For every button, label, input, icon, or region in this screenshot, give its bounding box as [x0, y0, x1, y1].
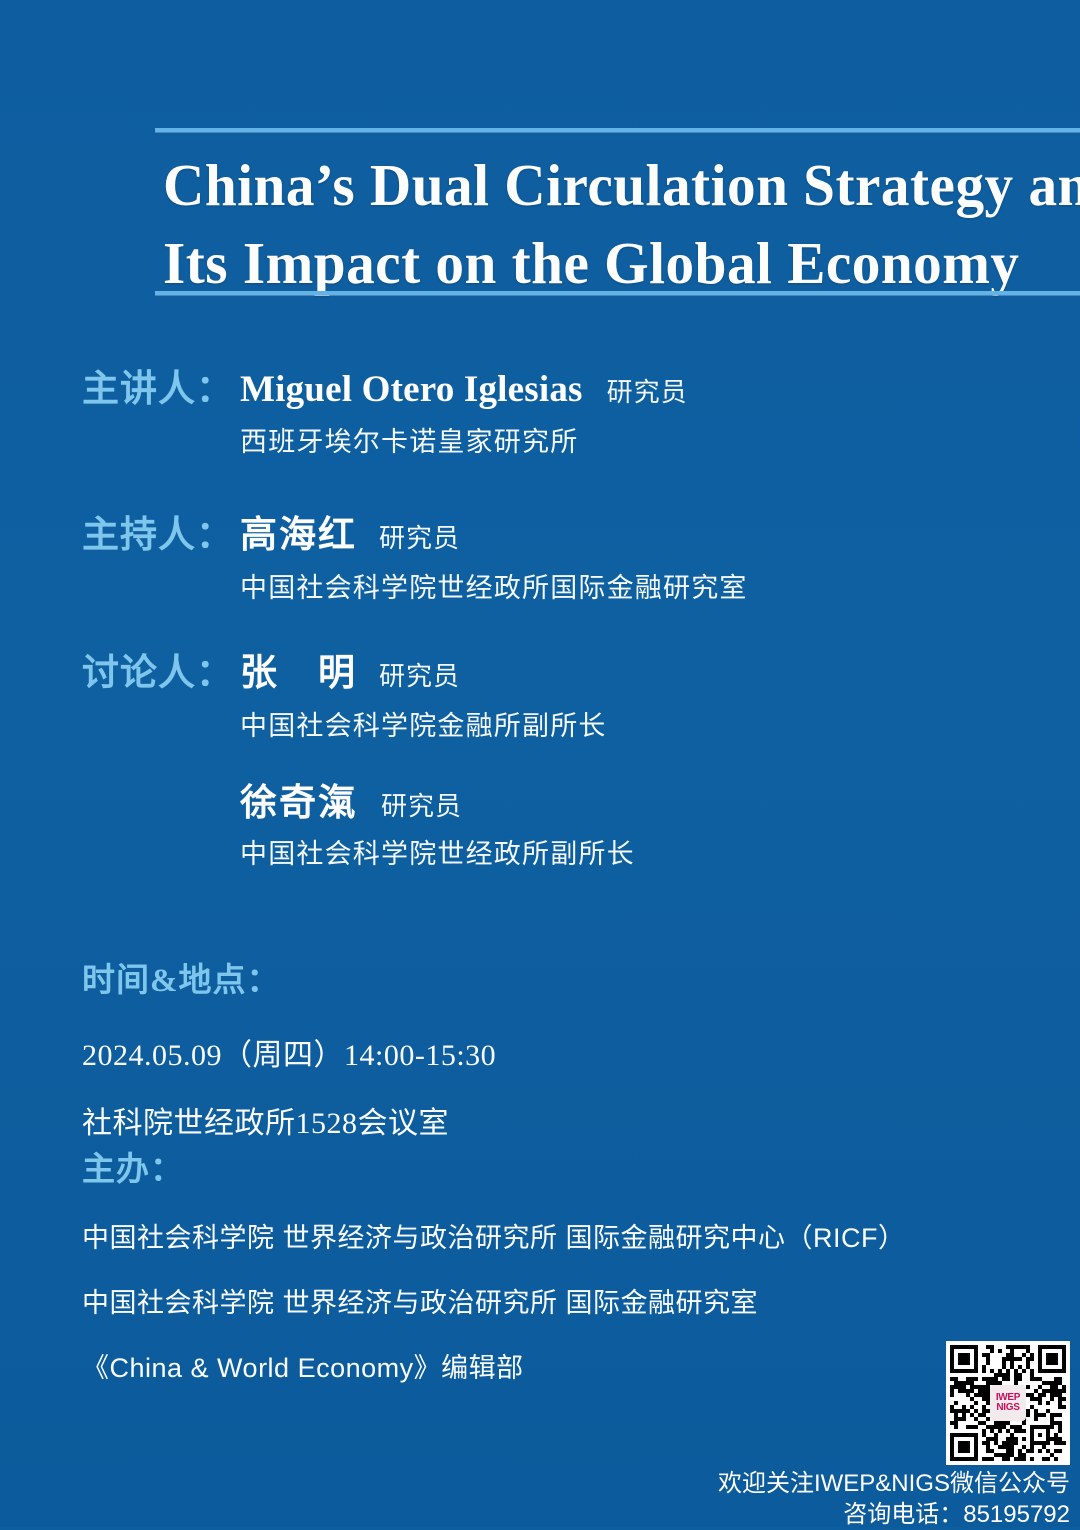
footer-phone-text: 咨询电话：85195792	[718, 1499, 1070, 1530]
person-name-discussant-2: 徐奇滊	[240, 772, 357, 826]
role-label-speaker: 主讲人：	[82, 358, 234, 412]
person-headline: 主讲人： Miguel Otero Iglesias 研究员	[82, 358, 688, 412]
person-affiliation-discussant-1: 中国社会科学院金融所副所长	[240, 704, 607, 743]
title-block: China’s Dual Circulation Strategy and It…	[155, 128, 1080, 302]
organizer-line-2: 中国社会科学院 世界经济与政治研究所 国际金融研究室	[82, 1281, 906, 1320]
person-name-discussant-1: 张 明	[240, 642, 357, 696]
person-name-speaker: Miguel Otero Iglesias	[240, 368, 583, 411]
footer-follow-text: 欢迎关注IWEP&NIGS微信公众号	[718, 1468, 1070, 1499]
poster-canvas: China’s Dual Circulation Strategy and It…	[0, 0, 1080, 1527]
organizers-section: 主办： 中国社会科学院 世界经济与政治研究所 国际金融研究中心（RICF） 中国…	[82, 1142, 906, 1385]
person-headline: 讨论人： 张 明 研究员	[82, 642, 460, 696]
person-affiliation-discussant-2: 中国社会科学院世经政所副所长	[240, 832, 635, 871]
organizers-heading: 主办：	[82, 1142, 906, 1190]
organizer-line-3: 《China & World Economy》编辑部	[82, 1346, 906, 1385]
person-name-host: 高海红	[240, 504, 357, 558]
title-line-1: China’s Dual Circulation Strategy and	[163, 152, 1080, 218]
person-affiliation-speaker: 西班牙埃尔卡诺皇家研究所	[240, 420, 578, 459]
person-affiliation-host: 中国社会科学院世经政所国际金融研究室	[240, 566, 748, 605]
title-bottom-rule	[155, 291, 1080, 295]
event-venue: 社科院世经政所1528会议室	[82, 1098, 496, 1142]
person-headline: 主持人： 高海红 研究员	[82, 504, 460, 558]
wechat-qr-code[interactable]: IWEP NIGS	[946, 1341, 1070, 1465]
time-place-heading: 时间&地点：	[82, 953, 496, 1001]
qr-center-logo: IWEP NIGS	[990, 1385, 1026, 1421]
qr-logo-line-2: NIGS	[996, 1403, 1019, 1413]
person-headline: 徐奇滊 研究员	[240, 772, 462, 826]
person-rank-discussant-1: 研究员	[379, 656, 460, 693]
title-top-rule	[155, 128, 1080, 132]
role-label-host: 主持人：	[82, 504, 234, 558]
role-label-discussant: 讨论人：	[82, 642, 234, 696]
time-place-section: 时间&地点： 2024.05.09（周四）14:00-15:30 社科院世经政所…	[82, 953, 496, 1142]
event-datetime: 2024.05.09（周四）14:00-15:30	[82, 1030, 496, 1074]
organizer-line-1: 中国社会科学院 世界经济与政治研究所 国际金融研究中心（RICF）	[82, 1216, 906, 1255]
person-rank-host: 研究员	[379, 518, 460, 555]
person-rank-speaker: 研究员	[607, 372, 688, 409]
footer-block: 欢迎关注IWEP&NIGS微信公众号 咨询电话：85195792	[718, 1468, 1070, 1530]
person-rank-discussant-2: 研究员	[381, 786, 462, 823]
page-title: China’s Dual Circulation Strategy and It…	[163, 146, 1052, 302]
qr-canvas: IWEP NIGS	[950, 1345, 1066, 1461]
